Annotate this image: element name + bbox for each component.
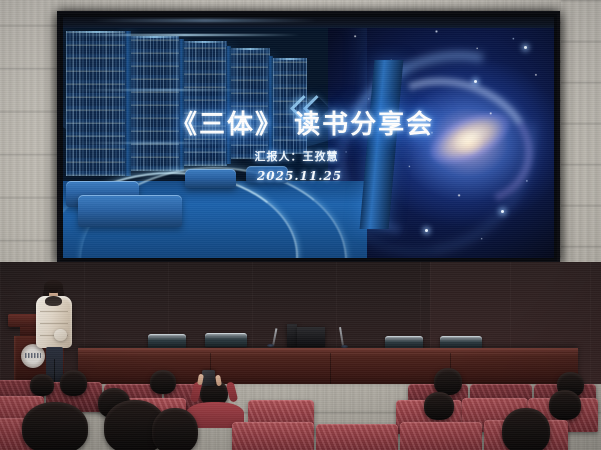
slide-text-group: 《三体》 读书分享会 汇报人：王孜慧 2025.11.25 xyxy=(63,17,554,258)
audience-head xyxy=(60,370,87,396)
laptop-screen xyxy=(287,324,297,347)
slide-title: 《三体》 读书分享会 xyxy=(171,104,434,141)
audience-head xyxy=(549,390,581,420)
table-top xyxy=(78,348,578,353)
audience-arm xyxy=(226,381,239,402)
stage-chair xyxy=(148,334,186,348)
laptop-body[interactable] xyxy=(297,327,325,347)
jacket-seam xyxy=(40,323,68,324)
stage-chair xyxy=(205,333,247,347)
microphone-base xyxy=(267,344,274,347)
audience-head-foreground xyxy=(22,402,88,450)
presentation-slide: 《三体》 读书分享会 汇报人：王孜慧 2025.11.25 xyxy=(63,17,554,258)
projection-screen[interactable]: 《三体》 读书分享会 汇报人：王孜慧 2025.11.25 xyxy=(57,11,560,264)
audience-head xyxy=(424,392,454,420)
audience-head-foreground xyxy=(502,408,550,450)
audience-head xyxy=(434,368,462,395)
audience-seat[interactable] xyxy=(316,424,398,450)
audience-head xyxy=(30,374,54,396)
audience-head-foreground xyxy=(152,408,198,450)
jacket-seam xyxy=(40,311,68,312)
presenter-bag xyxy=(54,329,67,341)
slide-presenter-label: 汇报人：王孜慧 xyxy=(254,148,338,164)
audience-hand xyxy=(215,375,222,387)
audience-seat[interactable] xyxy=(400,422,482,450)
audience-head xyxy=(150,370,176,394)
auditorium-scene: 《三体》 读书分享会 汇报人：王孜慧 2025.11.25 xyxy=(0,0,601,450)
audience-seat[interactable] xyxy=(232,422,314,450)
slide-date: 2025.11.25 xyxy=(257,169,342,183)
audience-area xyxy=(0,366,601,450)
smartphone[interactable] xyxy=(202,370,215,386)
presenter-collar xyxy=(45,296,62,306)
